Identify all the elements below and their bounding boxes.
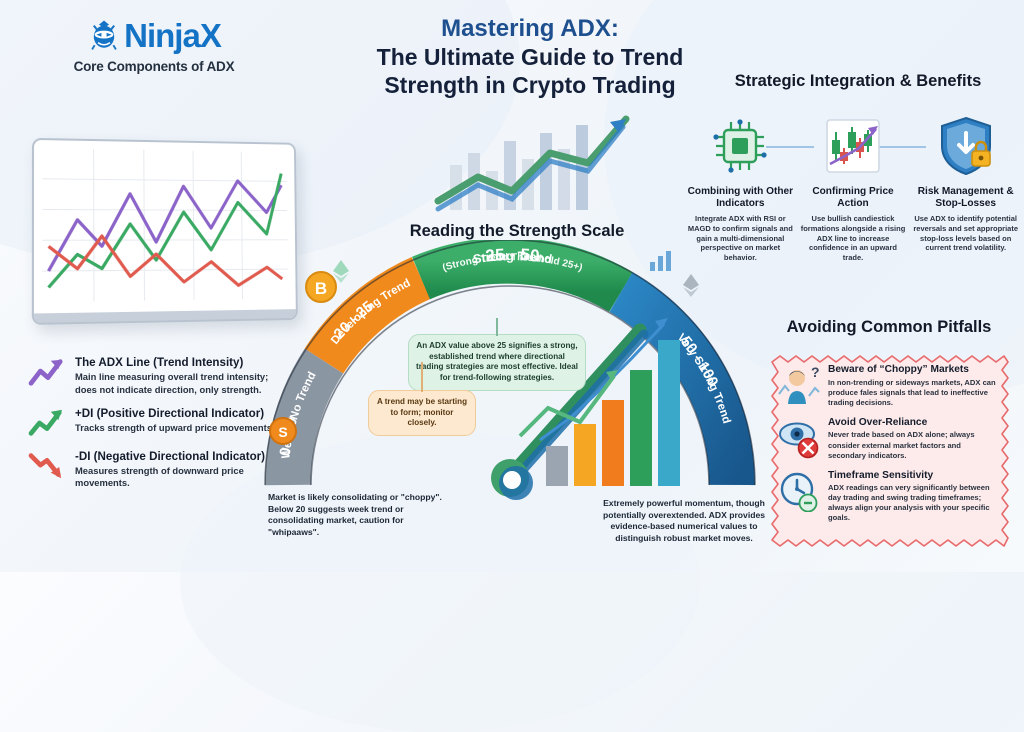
purple-up-arrow-icon [28,356,66,388]
title-line-1: Mastering ADX: [340,14,720,43]
strategic-card-combining: Combining with Other Indicators Integrat… [686,110,795,263]
strategic-card-title: Combining with Other Indicators [686,186,795,210]
strategic-card-risk: Risk Management & Stop-Losses Use ADX to… [911,110,1020,263]
title-line-3: Strength in Crypto Trading [340,71,720,99]
gauge-note-very-strong: Extremely powerful momentum, though pote… [598,498,770,545]
callout-strong-trend: An ADX value above 25 signifies a strong… [408,334,586,391]
callout-stem-green [496,318,498,336]
strategic-card-desc: Use bullish candiestick formations along… [799,214,908,263]
candlestick-chart-icon [799,110,908,182]
page-title: Mastering ADX: The Ultimate Guide to Tre… [340,14,720,99]
brand-subtitle: Core Components of ADX [34,59,274,74]
pitfall-item-timeframe: Timeframe Sensitivity ADX readings can v… [777,470,999,524]
gauge-note-weak: Market is likely consolidating or "chopp… [268,492,454,539]
svg-text:S: S [278,424,287,440]
pitfall-item-choppy: ? Beware of “Choppy” Markets In non-tren… [777,364,999,408]
pitfall-title: Avoid Over-Reliance [828,417,999,429]
strategic-heading: Strategic Integration & Benefits [700,72,1016,91]
gauge-heading: Reading the Strength Scale [392,222,642,241]
uptrend-background-art [430,105,650,215]
callout-developing-trend: A trend may be starting to form; monitor… [368,390,476,436]
title-line-2: The Ultimate Guide to Trend [340,43,720,71]
pitfall-title: Timeframe Sensitivity [828,470,999,482]
strategic-card-price-action: Confirming Price Action Use bullish cand… [799,110,908,263]
strategic-card-desc: Integrate ADX with RSI or MAGD to confir… [686,214,795,263]
confused-person-icon: ? [777,364,821,406]
pitfalls-heading: Avoiding Common Pitfalls [760,318,1018,337]
strategic-card-title: Confirming Price Action [799,186,908,210]
eye-no-entry-icon [777,417,821,459]
pitfall-item-over-reliance: Avoid Over-Reliance Never trade based on… [777,417,999,461]
pitfalls-panel: ? Beware of “Choppy” Markets In non-tren… [766,352,1014,552]
svg-text:?: ? [811,364,820,380]
red-down-arrow-icon [28,450,66,482]
shield-lock-icon [911,110,1020,182]
pitfall-desc: In non-trending or sideways markets, ADX… [828,378,999,408]
callout-stem-orange [421,362,423,392]
svg-text:B: B [315,279,327,298]
brand-logo-text: NinjaX [124,19,221,52]
brand-logo-block: NinjaX Core Components of ADX [34,18,274,74]
mini-bar-chart-icon [648,250,674,272]
ethereum-icon-right [680,272,702,298]
strategic-card-desc: Use ADX to identify potential reversals … [911,214,1020,254]
stablecoin-coin-icon: S [268,416,298,446]
microchip-ai-icon [686,110,795,182]
ninja-mask-icon [87,18,121,52]
ethereum-icon [330,258,352,284]
pitfall-desc: Never trade based on ADX alone; always c… [828,430,999,460]
pitfall-title: Beware of “Choppy” Markets [828,364,999,376]
green-up-arrow-icon [28,407,66,439]
pitfall-desc: ADX readings can very significantly betw… [828,483,999,523]
strategic-card-title: Risk Management & Stop-Losses [911,186,1020,210]
strategic-cards: Combining with Other Indicators Integrat… [686,110,1020,263]
clock-timeframe-icon [777,470,821,512]
